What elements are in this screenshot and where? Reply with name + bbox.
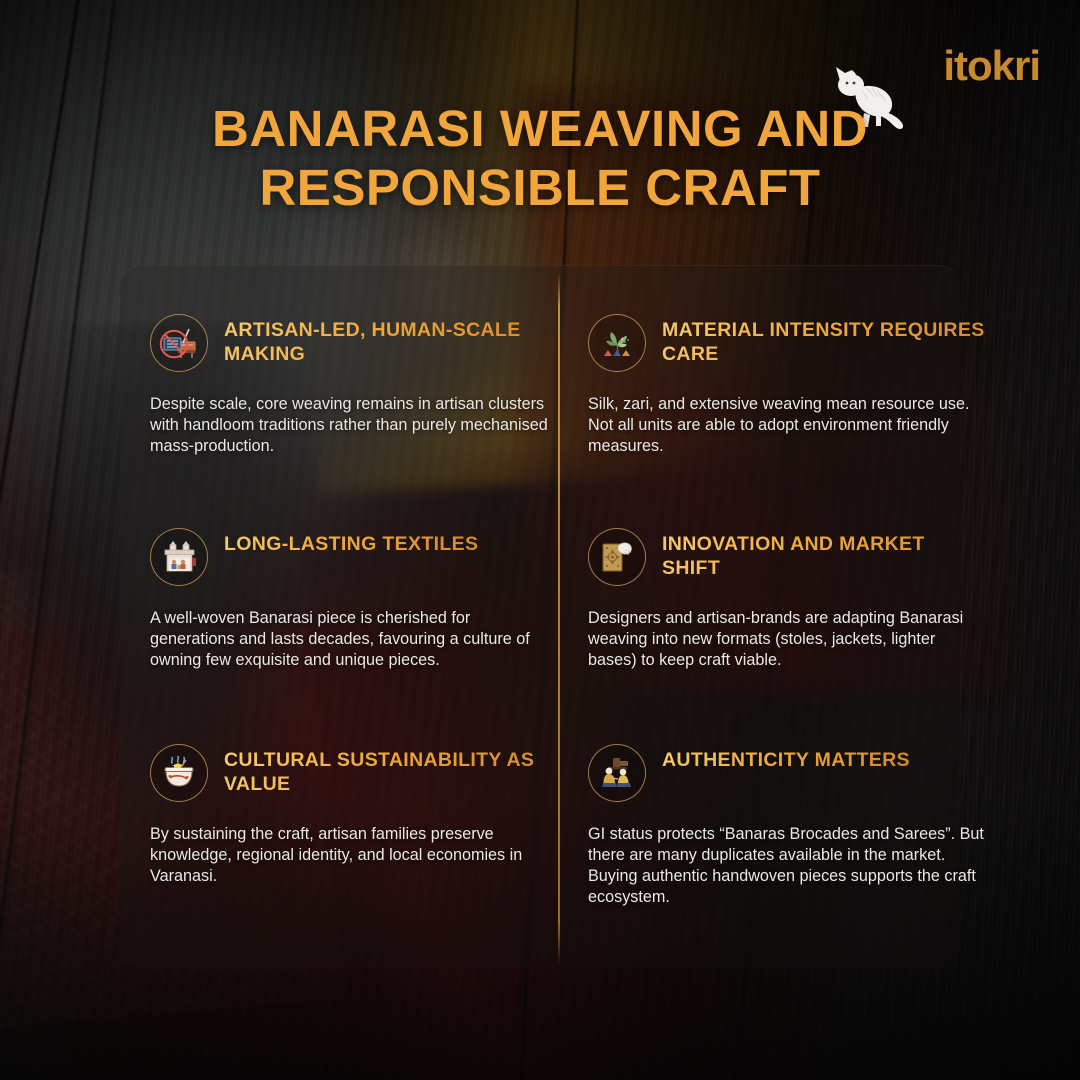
card-grid: ARTISAN-LED, HUMAN-SCALE MAKING Despite … bbox=[120, 266, 960, 969]
card-body: Designers and artisan-brands are adaptin… bbox=[588, 608, 986, 671]
card-artisan-led: ARTISAN-LED, HUMAN-SCALE MAKING Despite … bbox=[150, 314, 548, 457]
infographic-poster: itokri BANARASI WEAVING AND RESPONSIBLE … bbox=[0, 0, 1080, 1080]
card-innovation-market-shift: INNOVATION AND MARKET SHIFT Designers an… bbox=[588, 528, 986, 671]
card-title: INNOVATION AND MARKET SHIFT bbox=[662, 528, 986, 581]
card-body: Silk, zari, and extensive weaving mean r… bbox=[588, 394, 986, 457]
card-header: CULTURAL SUSTAINABILITY AS VALUE bbox=[150, 744, 548, 802]
page-title-line-2: RESPONSIBLE CRAFT bbox=[120, 159, 960, 218]
card-cultural-sustainability: CULTURAL SUSTAINABILITY AS VALUE By sust… bbox=[150, 744, 548, 887]
card-body: Despite scale, core weaving remains in a… bbox=[150, 394, 548, 457]
card-long-lasting-textiles: LONG-LASTING TEXTILES A well-woven Banar… bbox=[150, 528, 548, 671]
card-title: CULTURAL SUSTAINABILITY AS VALUE bbox=[224, 744, 548, 797]
page-title: BANARASI WEAVING AND RESPONSIBLE CRAFT bbox=[0, 100, 1080, 217]
card-body: A well-woven Banarasi piece is cherished… bbox=[150, 608, 548, 671]
card-title: AUTHENTICITY MATTERS bbox=[662, 744, 910, 773]
hand-holding-fabric-icon bbox=[588, 528, 646, 586]
craft-shop-icon bbox=[150, 528, 208, 586]
card-header: AUTHENTICITY MATTERS bbox=[588, 744, 986, 802]
card-authenticity-matters: AUTHENTICITY MATTERS GI status protects … bbox=[588, 744, 986, 908]
card-header: LONG-LASTING TEXTILES bbox=[150, 528, 548, 586]
content-panel: ARTISAN-LED, HUMAN-SCALE MAKING Despite … bbox=[120, 265, 960, 969]
no-powerloom-icon bbox=[150, 314, 208, 372]
card-title: LONG-LASTING TEXTILES bbox=[224, 528, 478, 557]
natural-dye-leaves-icon bbox=[588, 314, 646, 372]
card-body: GI status protects “Banaras Brocades and… bbox=[588, 824, 986, 908]
card-body: By sustaining the craft, artisan familie… bbox=[150, 824, 548, 887]
card-header: INNOVATION AND MARKET SHIFT bbox=[588, 528, 986, 586]
page-title-line-1: BANARASI WEAVING AND bbox=[120, 100, 960, 159]
card-header: ARTISAN-LED, HUMAN-SCALE MAKING bbox=[150, 314, 548, 372]
card-title: ARTISAN-LED, HUMAN-SCALE MAKING bbox=[224, 314, 548, 367]
brand-logo[interactable]: itokri bbox=[920, 40, 1040, 92]
card-title: MATERIAL INTENSITY REQUIRES CARE bbox=[662, 314, 986, 367]
two-artisans-weaving-icon bbox=[588, 744, 646, 802]
card-material-intensity: MATERIAL INTENSITY REQUIRES CARE Silk, z… bbox=[588, 314, 986, 457]
brand-logo-text: itokri bbox=[943, 45, 1040, 87]
card-header: MATERIAL INTENSITY REQUIRES CARE bbox=[588, 314, 986, 372]
steaming-pot-icon bbox=[150, 744, 208, 802]
